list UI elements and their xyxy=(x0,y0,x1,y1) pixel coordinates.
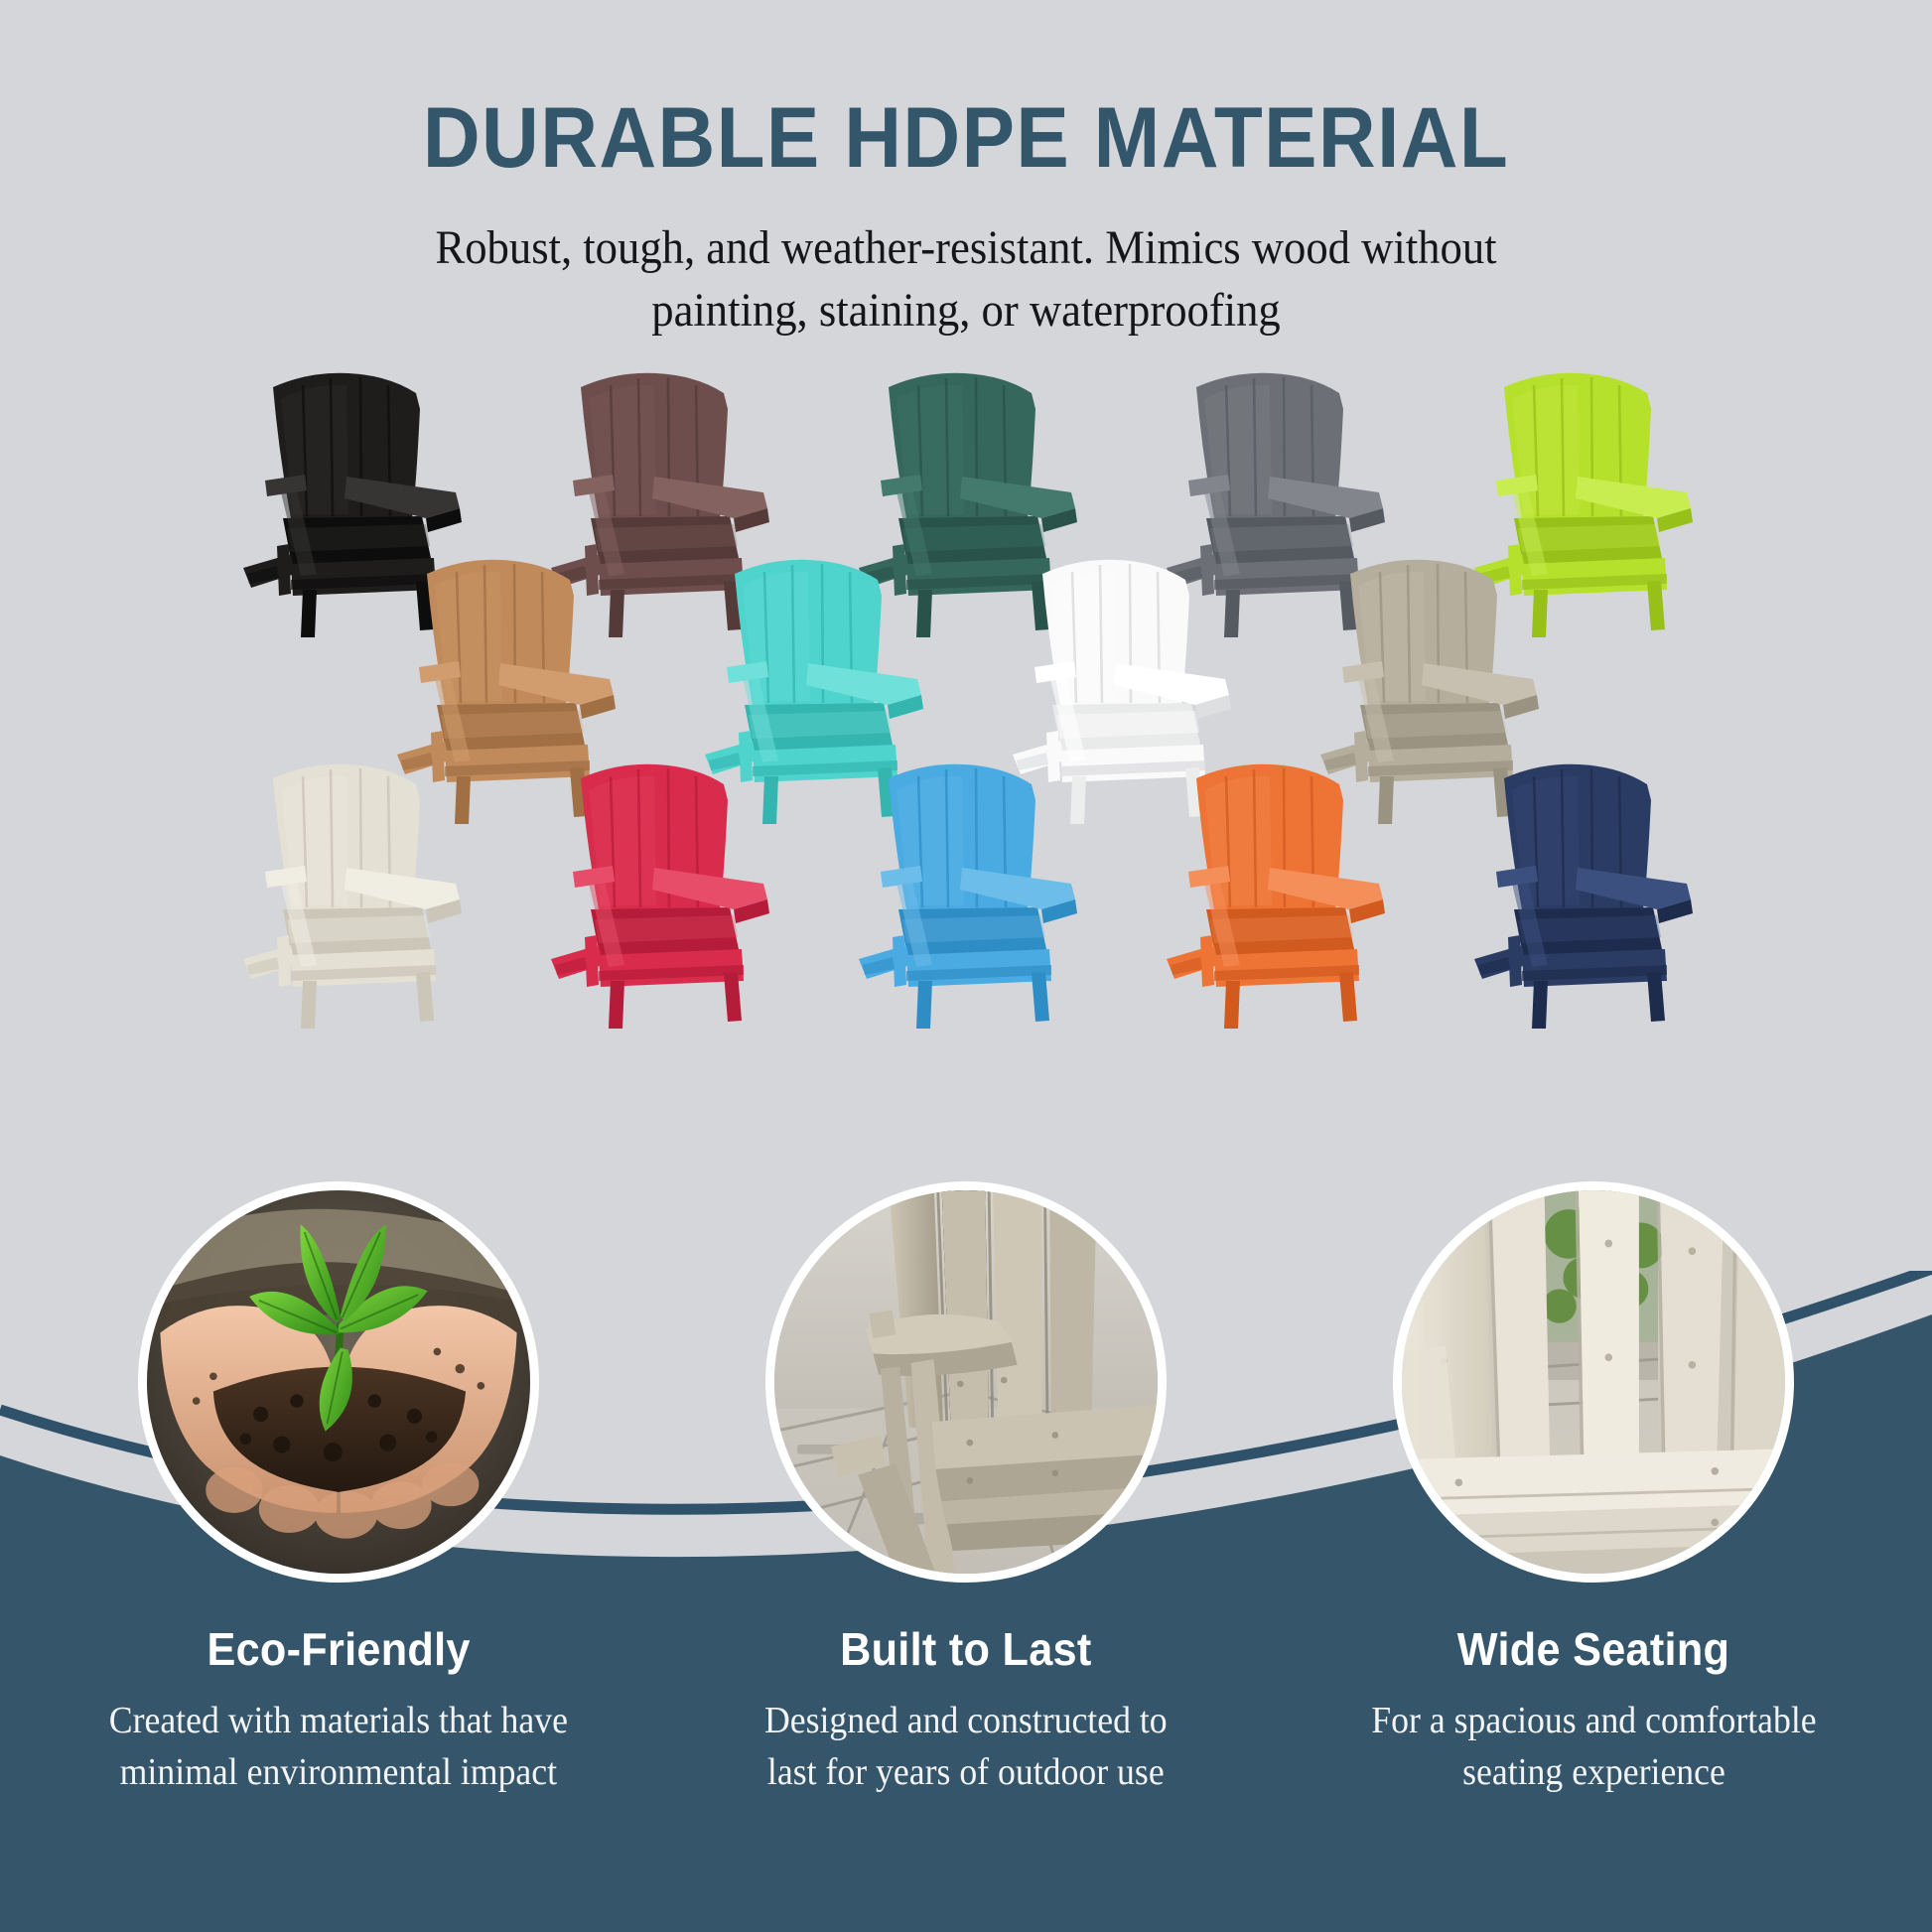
photo-closeup-white-chair-wide-seat xyxy=(1393,1181,1794,1583)
feature-desc-line-2: last for years of outdoor use xyxy=(764,1747,1168,1799)
infographic-canvas: DURABLE HDPE MATERIAL Robust, tough, and… xyxy=(0,0,1932,1932)
header: DURABLE HDPE MATERIAL Robust, tough, and… xyxy=(0,0,1932,342)
feature-desc-line-2: seating experience xyxy=(1371,1747,1816,1799)
feature-description: Designed and constructed to last for yea… xyxy=(764,1696,1168,1798)
feature-eco-friendly: Eco-Friendly Created with materials that… xyxy=(61,1181,617,1932)
feature-title: Eco-Friendly xyxy=(207,1622,470,1676)
feature-desc-line-1: Designed and constructed to xyxy=(764,1696,1168,1747)
page-subtitle: Robust, tough, and weather-resistant. Mi… xyxy=(68,216,1864,343)
chair-light-blue[interactable] xyxy=(837,760,1095,1031)
white-chair-closeup-illustration xyxy=(1402,1190,1785,1574)
taupe-chair-closeup-illustration xyxy=(774,1190,1158,1574)
feature-wide-seating: Wide Seating For a spacious and comforta… xyxy=(1315,1181,1871,1932)
color-swatch-grid xyxy=(0,369,1932,1263)
chair-ivory[interactable] xyxy=(221,760,480,1031)
feature-description: Created with materials that have minimal… xyxy=(109,1696,568,1798)
chair-orange[interactable] xyxy=(1145,760,1403,1031)
feature-desc-line-2: minimal environmental impact xyxy=(109,1747,568,1799)
photo-hands-holding-soil-with-seedling xyxy=(138,1181,539,1583)
feature-title: Built to Last xyxy=(840,1622,1091,1676)
seedling-illustration xyxy=(147,1190,530,1574)
swatch-row-3 xyxy=(0,760,1932,1031)
photo-closeup-taupe-chair-on-patio xyxy=(765,1181,1167,1583)
feature-desc-line-1: For a spacious and comfortable xyxy=(1371,1696,1816,1747)
subtitle-line-1: Robust, tough, and weather-resistant. Mi… xyxy=(435,221,1496,274)
feature-description: For a spacious and comfortable seating e… xyxy=(1371,1696,1816,1798)
subtitle-line-2: painting, staining, or waterproofing xyxy=(68,279,1864,342)
feature-desc-line-1: Created with materials that have xyxy=(109,1696,568,1747)
chair-red[interactable] xyxy=(529,760,787,1031)
chair-navy[interactable] xyxy=(1452,760,1711,1031)
page-title: DURABLE HDPE MATERIAL xyxy=(68,95,1864,183)
feature-built-to-last: Built to Last Designed and constructed t… xyxy=(688,1181,1244,1932)
feature-row: Eco-Friendly Created with materials that… xyxy=(0,1181,1932,1932)
feature-title: Wide Seating xyxy=(1457,1622,1729,1676)
